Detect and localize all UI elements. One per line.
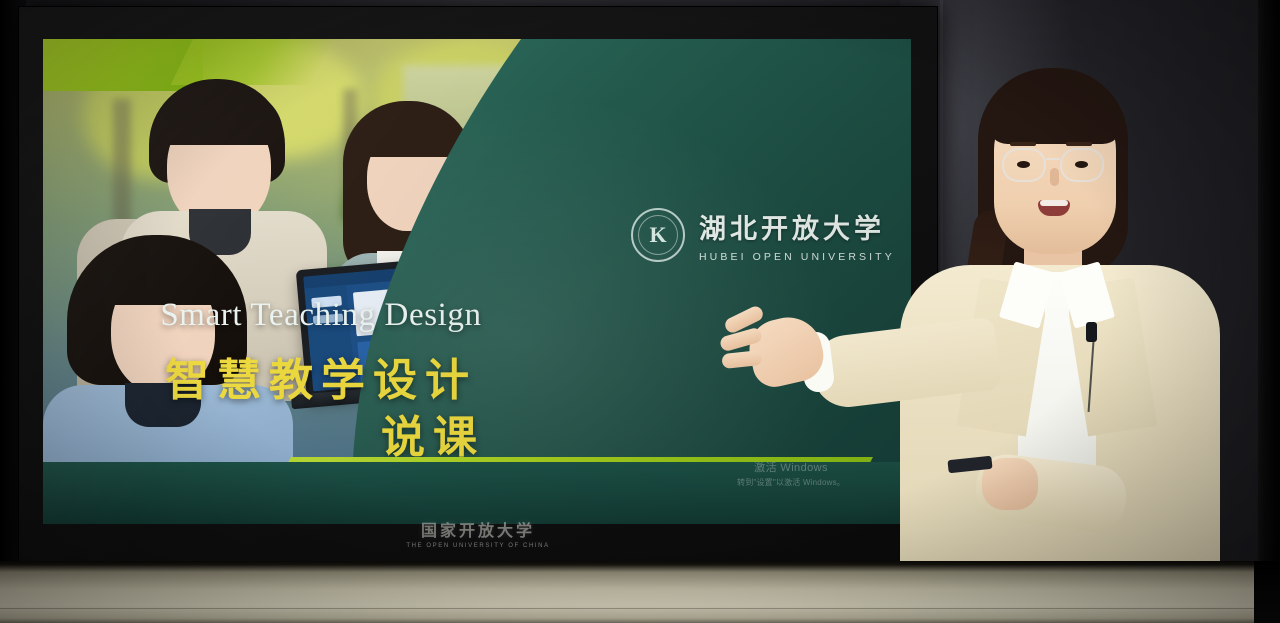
watermark-line-2: 转到"设置"以激活 Windows。	[737, 477, 845, 488]
slide-title-chinese-line2: 说课	[193, 401, 673, 465]
watermark-line-1: 激活 Windows	[737, 459, 845, 475]
ouc-bezel-logo: 国家开放大学 THE OPEN UNIVERSITY OF CHINA	[19, 517, 937, 549]
lime-accent-tail	[171, 39, 333, 85]
presenter-eye-right	[1075, 161, 1088, 168]
presenter	[890, 60, 1220, 623]
university-seal-icon: K	[631, 208, 685, 262]
floor-baseboard	[0, 561, 1280, 623]
university-seal-mark: K	[649, 224, 666, 246]
screenshot-stage: K 湖北开放大学 HUBEI OPEN UNIVERSITY Smart Tea…	[0, 0, 1280, 623]
eyeglasses-bridge-icon	[1046, 158, 1060, 160]
floor-seam-line	[0, 608, 1280, 609]
windows-activation-watermark: 激活 Windows 转到"设置"以激活 Windows。	[737, 459, 845, 488]
presenter-eye-left	[1017, 161, 1030, 168]
ouc-logo-cn: 国家开放大学	[19, 517, 937, 541]
university-logo-lockup: K 湖北开放大学 HUBEI OPEN UNIVERSITY	[631, 207, 895, 263]
ouc-logo-en: THE OPEN UNIVERSITY OF CHINA	[19, 543, 937, 549]
presenter-eyebrow-right	[1066, 142, 1092, 146]
wall-right-panel	[1258, 0, 1280, 623]
university-name-cn: 湖北开放大学	[699, 207, 895, 246]
university-name-en: HUBEI OPEN UNIVERSITY	[699, 251, 895, 263]
presenter-fringe	[988, 82, 1122, 144]
presentation-slide[interactable]: K 湖北开放大学 HUBEI OPEN UNIVERSITY Smart Tea…	[43, 39, 911, 524]
projection-screen-bezel: K 湖北开放大学 HUBEI OPEN UNIVERSITY Smart Tea…	[18, 6, 938, 562]
floor-right-shadow	[1254, 561, 1280, 623]
presenter-teeth	[1040, 200, 1068, 206]
slide-title-chinese-line1: 智慧教学设计	[81, 344, 561, 408]
slide-title-english: Smart Teaching Design	[81, 297, 561, 334]
presenter-eyebrow-left	[1010, 142, 1036, 146]
lapel-microphone-icon	[1086, 322, 1097, 342]
presenter-nose	[1050, 168, 1059, 186]
